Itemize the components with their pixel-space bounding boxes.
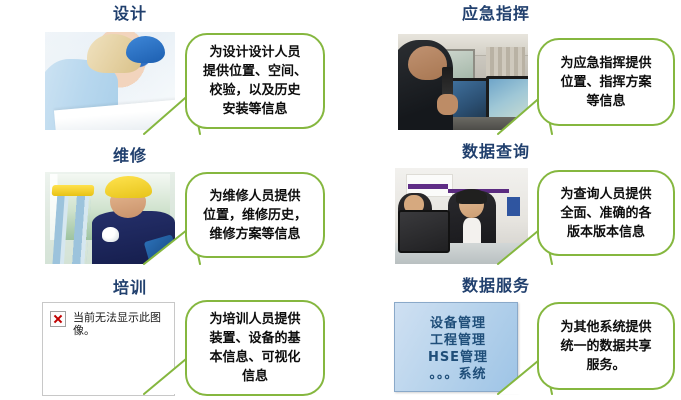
callout-bubble-design: 为设计设计人员 提供位置、空间、 校验，以及历史 安装等信息 xyxy=(185,33,325,129)
callout-text-emergency: 为应急指挥提供 位置、指挥方案 等信息 xyxy=(554,54,657,111)
callout-bubble-maintenance: 为维修人员提供 位置，维修历史， 维修方案等信息 xyxy=(185,172,325,258)
system-list-box: 设备管理 工程管理 HSE管理 。。。系统 xyxy=(394,302,518,392)
system-list-item: HSE管理 xyxy=(395,349,517,366)
photo-detail xyxy=(53,189,92,264)
callout-text-design: 为设计设计人员 提供位置、空间、 校验，以及历史 安装等信息 xyxy=(197,43,313,119)
photo-detail xyxy=(456,189,487,204)
photo-detail xyxy=(408,184,448,189)
photo-detail xyxy=(126,36,165,63)
system-list-item: 工程管理 xyxy=(395,332,517,349)
system-list-item: 。。。系统 xyxy=(395,366,517,383)
photo-emergency-command-radio xyxy=(398,34,528,130)
photo-detail xyxy=(507,197,520,216)
section-title-query: 数据查询 xyxy=(462,142,530,162)
callout-text-maintenance: 为维修人员提供 位置，维修历史， 维修方案等信息 xyxy=(197,187,313,244)
section-title-maintenance: 维修 xyxy=(113,146,147,166)
broken-image-text: 当前无法显示此图像。 xyxy=(73,311,165,337)
section-title-dataservice: 数据服务 xyxy=(462,276,530,296)
callout-text-query: 为查询人员提供 全面、准确的各 版本版本信息 xyxy=(554,185,657,242)
photo-detail xyxy=(398,210,450,252)
photo-designer-blueprint xyxy=(45,32,175,130)
section-title-training: 培训 xyxy=(113,278,147,298)
broken-image-placeholder: 当前无法显示此图像。 xyxy=(42,302,175,396)
callout-bubble-emergency: 为应急指挥提供 位置、指挥方案 等信息 xyxy=(537,38,675,126)
callout-text-training: 为培训人员提供 装置、设备的基 本信息、可视化 信息 xyxy=(203,310,306,386)
system-list-item: 设备管理 xyxy=(395,315,517,332)
callout-bubble-dataservice: 为其他系统提供 统一的数据共享 服务。 xyxy=(537,302,675,390)
callout-text-dataservice: 为其他系统提供 统一的数据共享 服务。 xyxy=(554,318,657,375)
section-title-design: 设计 xyxy=(113,4,147,24)
photo-office-data-query xyxy=(395,168,528,264)
photo-detail xyxy=(486,76,528,122)
photo-detail xyxy=(51,185,93,196)
callout-bubble-training: 为培训人员提供 装置、设备的基 本信息、可视化 信息 xyxy=(185,300,325,396)
broken-image-inner: 当前无法显示此图像。 xyxy=(43,303,174,337)
section-title-emergency: 应急指挥 xyxy=(462,4,530,24)
photo-detail xyxy=(437,94,458,115)
broken-image-icon xyxy=(50,311,66,327)
photo-maintenance-technician xyxy=(45,172,175,264)
photo-detail xyxy=(102,227,119,242)
callout-bubble-query: 为查询人员提供 全面、准确的各 版本版本信息 xyxy=(537,170,675,256)
diagram-canvas: 设计 为设计设计人员 提供位置、空间、 校验，以及历史 安装等信息 应急指挥 xyxy=(0,0,681,400)
